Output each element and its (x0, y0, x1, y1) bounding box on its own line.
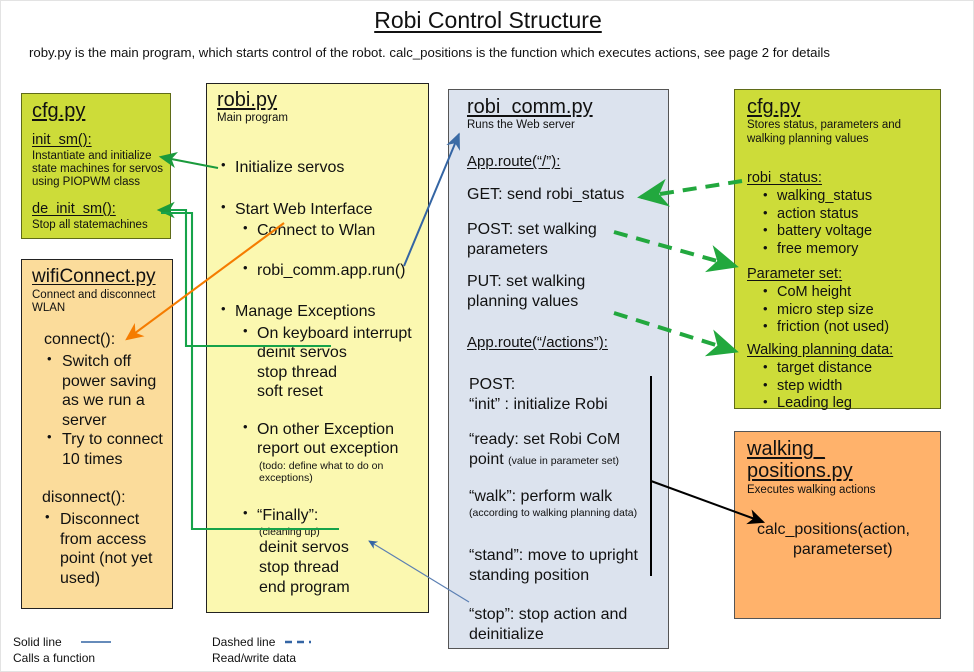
wifi-disconnect-list: Disconnect from access point (not yet us… (42, 510, 170, 588)
cfg-right-group-heading-0: robi_status: (747, 170, 933, 186)
node-wificonnect[interactable]: wifiConnect.py Connect and disconnect WL… (21, 259, 173, 609)
node-walking-positions[interactable]: walking_ positions.py Executes walking a… (734, 431, 941, 619)
list-item: Start Web Interface (219, 200, 424, 220)
route-actions-label: App.route(“/actions”): (467, 334, 667, 351)
wifi-title: wifiConnect.py (32, 266, 168, 288)
robi-finally-body: deinit servos stop thread end program (259, 538, 424, 598)
robi-caption: Main program (217, 112, 422, 126)
list-item: Connect to Wlan (241, 221, 424, 241)
robi-step-list-exceptions: Manage Exceptions (219, 302, 424, 322)
cfg-right-group-list-2: target distance step width Leading leg (761, 360, 937, 413)
robi-comm-title: robi_comm.py (467, 96, 662, 118)
wifi-func-disconnect: disonnect(): (42, 488, 170, 508)
list-item: Switch off power saving as we run a serv… (44, 352, 168, 430)
list-item: “Finally”: (241, 506, 424, 526)
calc-positions-line1: calc_positions(action, (757, 520, 937, 540)
route-root-label: App.route(“/”): (467, 153, 662, 170)
list-item: action status (761, 206, 933, 224)
robi-substep-list-web: Connect to Wlan robi_comm.app.run() (241, 221, 424, 280)
robi-exception-note: (todo: define what to do on exceptions) (259, 460, 424, 484)
action-2: “walk”: perform walk (469, 487, 659, 507)
cfg-right-caption: Stores status, parameters and walking pl… (747, 119, 933, 146)
robi-substep-list-exceptions: On keyboard interrupt deinit servos stop… (241, 324, 424, 459)
wifi-caption: Connect and disconnect WLAN (32, 289, 168, 316)
action-3: “stand”: move to upright standing positi… (469, 546, 661, 586)
cfg-left-title: cfg.py (32, 100, 85, 122)
page-title: Robi Control Structure (1, 7, 974, 34)
cfg-right-group-heading-2: Walking planning data: (747, 342, 937, 358)
walking-positions-title-line2: positions.py (747, 460, 933, 482)
legend-dashed-desc: Read/write data (212, 651, 296, 667)
cfg-right-group-heading-1: Parameter set: (747, 266, 933, 282)
wifi-connect-list: Switch off power saving as we run a serv… (44, 352, 168, 469)
calc-positions-line2: parameterset) (793, 540, 937, 560)
list-item: battery voltage (761, 223, 933, 241)
page-title-text: Robi Control Structure (374, 7, 602, 33)
action-4: “stop”: stop action and deinitialize (469, 605, 659, 645)
post-label: POST: (469, 375, 659, 395)
route-root-method-2: PUT: set walking planning values (467, 272, 627, 312)
list-item: Leading leg (761, 395, 937, 413)
legend-solid-label: Solid line (13, 635, 95, 651)
node-cfg-right[interactable]: cfg.py Stores status, parameters and wal… (734, 89, 941, 409)
diagram-canvas: Robi Control Structure roby.py is the ma… (0, 0, 974, 672)
cfg-right-group-list-0: walking_status action status battery vol… (761, 188, 933, 259)
robi-comm-caption: Runs the Web server (467, 119, 662, 133)
page-subtitle: roby.py is the main program, which start… (29, 45, 945, 60)
action-2-note: (according to walking planning data) (469, 507, 659, 519)
list-item: Try to connect 10 times (44, 430, 168, 469)
node-robi[interactable]: robi.py Main program Initialize servos S… (206, 83, 429, 613)
list-item: On keyboard interrupt deinit servos stop… (241, 324, 424, 402)
legend-dashed: Dashed line Read/write data (212, 635, 296, 666)
action-0: “init” : initialize Robi (469, 395, 659, 415)
list-item: micro step size (761, 302, 933, 320)
robi-step-list: Initialize servos Start Web Interface (219, 158, 424, 219)
node-robi-comm[interactable]: robi_comm.py Runs the Web server App.rou… (448, 89, 669, 649)
list-item: step width (761, 378, 937, 396)
robi-finally-note: (cleaning up) (259, 526, 424, 538)
walking-positions-caption: Executes walking actions (747, 484, 933, 498)
list-item: Initialize servos (219, 158, 424, 178)
cfg-right-title: cfg.py (747, 96, 933, 118)
walking-positions-title-line1: walking_ (747, 438, 933, 460)
route-root-method-0: GET: send robi_status (467, 185, 662, 205)
route-root-method-1: POST: set walking parameters (467, 220, 627, 260)
list-item: friction (not used) (761, 319, 933, 337)
list-item: Manage Exceptions (219, 302, 424, 322)
list-item: walking_status (761, 188, 933, 206)
legend-solid: Solid line Calls a function (13, 635, 95, 666)
cfg-left-section-body-0: Instantiate and initialize state machine… (32, 150, 166, 190)
list-item: On other Exception report out exception (241, 420, 424, 459)
list-item: target distance (761, 360, 937, 378)
list-item: robi_comm.app.run() (241, 261, 424, 281)
robi-finally-list: “Finally”: (241, 506, 424, 526)
legend-solid-desc: Calls a function (13, 651, 95, 667)
cfg-left-section-heading-1: de_init_sm(): (32, 201, 166, 217)
list-item: Disconnect from access point (not yet us… (42, 510, 170, 588)
wifi-func-connect: connect(): (44, 330, 168, 350)
action-1-note: (value in parameter set) (508, 455, 619, 467)
list-item: CoM height (761, 284, 933, 302)
cfg-left-section-heading-0: init_sm(): (32, 132, 166, 148)
legend-dashed-label: Dashed line (212, 635, 296, 651)
cfg-right-group-list-1: CoM height micro step size friction (not… (761, 284, 933, 337)
node-cfg-left[interactable]: cfg.py init_sm(): Instantiate and initia… (21, 93, 171, 239)
list-item: free memory (761, 241, 933, 259)
cfg-left-section-body-1: Stop all statemachines (32, 219, 166, 232)
robi-title: robi.py (217, 89, 422, 111)
